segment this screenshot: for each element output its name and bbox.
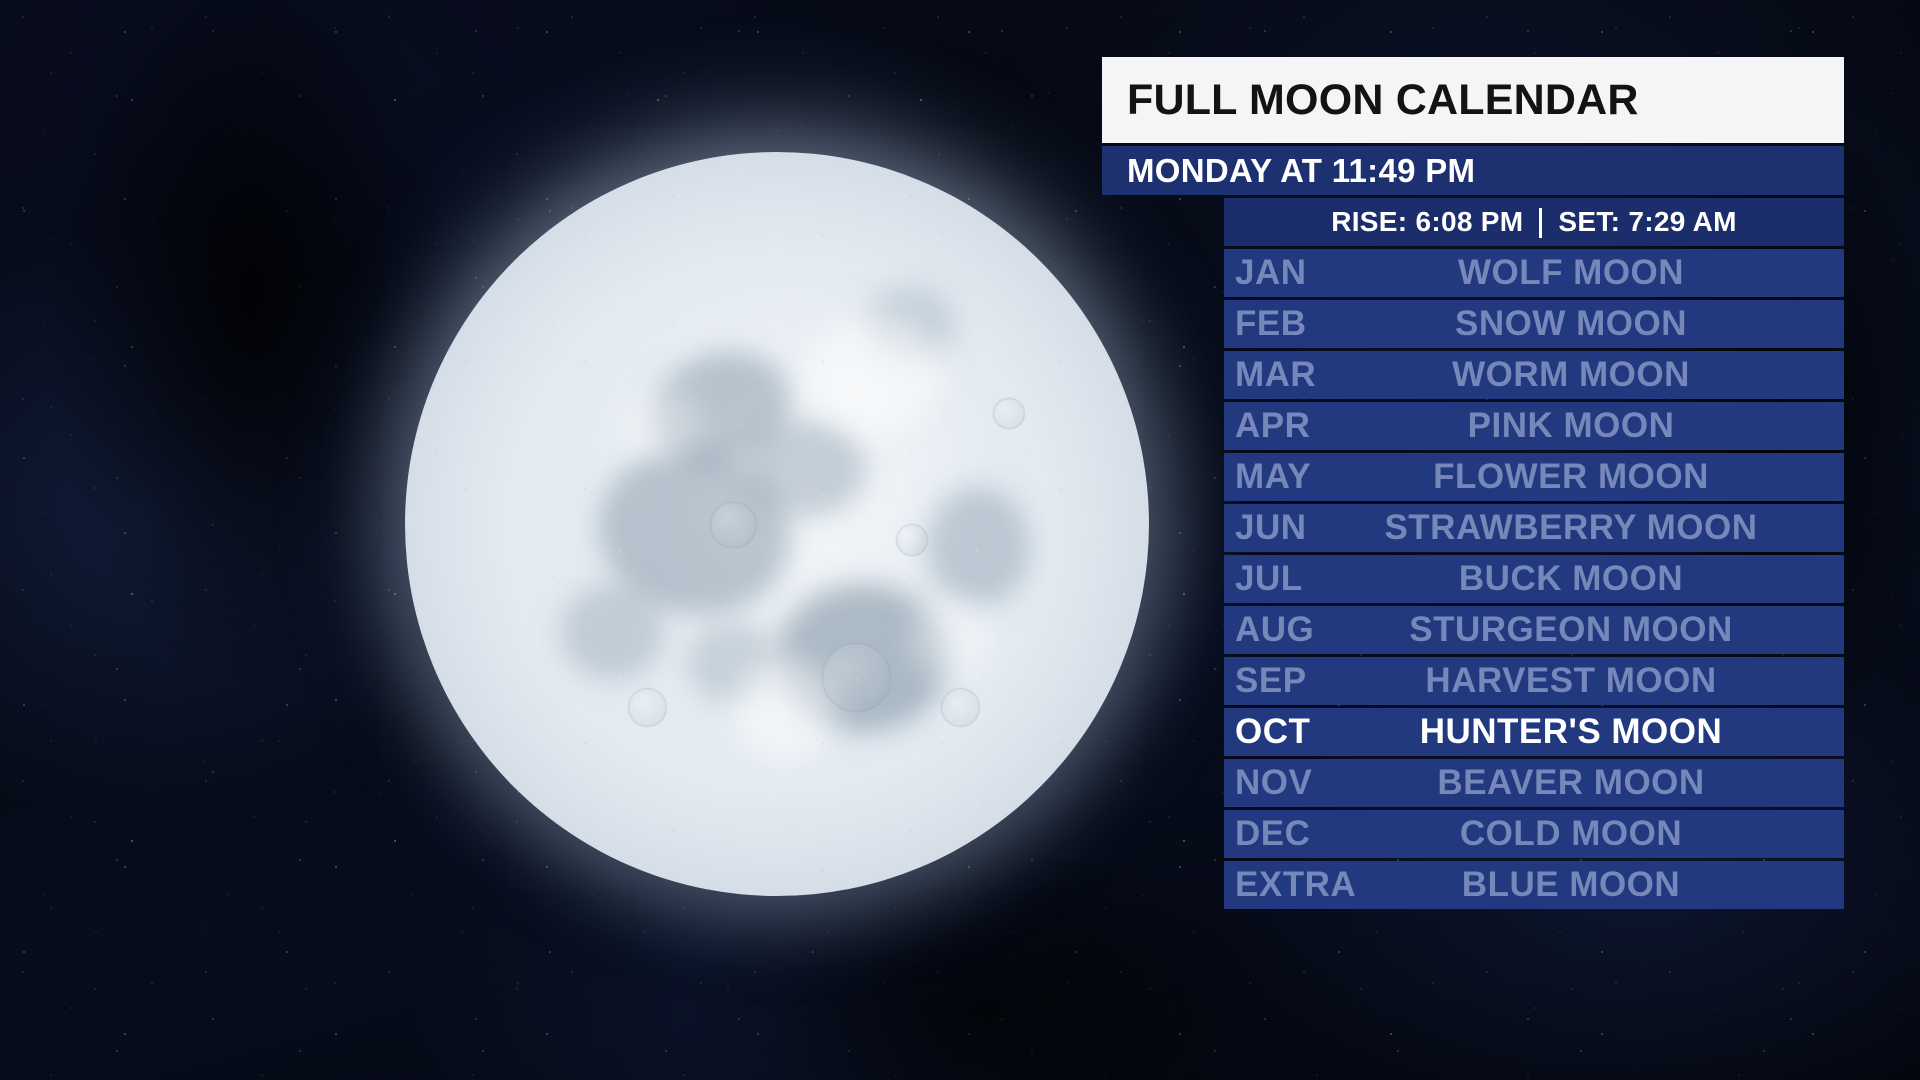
divider — [1539, 208, 1542, 238]
moonset-label: SET: 7:29 AM — [1558, 206, 1736, 238]
moon-name: PINK MOON — [1224, 406, 1844, 446]
month-abbr: FEB — [1235, 304, 1307, 344]
moon-name: BUCK MOON — [1224, 559, 1844, 599]
month-abbr: MAY — [1235, 457, 1311, 497]
month-abbr: AUG — [1235, 610, 1314, 650]
full-moon-time: MONDAY AT 11:49 PM — [1102, 146, 1844, 195]
moon-name: STURGEON MOON — [1224, 610, 1844, 650]
month-abbr: DEC — [1235, 814, 1310, 854]
month-row[interactable]: FEBSNOW MOON — [1224, 300, 1844, 348]
month-row[interactable]: JANWOLF MOON — [1224, 249, 1844, 297]
month-abbr: JAN — [1235, 253, 1307, 293]
moon-name: WOLF MOON — [1224, 253, 1844, 293]
full-moon-calendar-panel: FULL MOON CALENDAR MONDAY AT 11:49 PM RI… — [1102, 57, 1844, 912]
month-row[interactable]: MARWORM MOON — [1224, 351, 1844, 399]
month-abbr: SEP — [1235, 661, 1307, 701]
month-abbr: JUL — [1235, 559, 1303, 599]
month-row[interactable]: DECCOLD MOON — [1224, 810, 1844, 858]
moon-name: FLOWER MOON — [1224, 457, 1844, 497]
month-row[interactable]: AUGSTURGEON MOON — [1224, 606, 1844, 654]
month-row[interactable]: SEPHARVEST MOON — [1224, 657, 1844, 705]
moon-name: HARVEST MOON — [1224, 661, 1844, 701]
month-abbr: EXTRA — [1235, 865, 1356, 905]
month-row[interactable]: EXTRABLUE MOON — [1224, 861, 1844, 909]
moon-name: SNOW MOON — [1224, 304, 1844, 344]
moon-name: WORM MOON — [1224, 355, 1844, 395]
moonrise-label: RISE: 6:08 PM — [1331, 206, 1523, 238]
month-row[interactable]: OCTHUNTER'S MOON — [1224, 708, 1844, 756]
month-row[interactable]: JUNSTRAWBERRY MOON — [1224, 504, 1844, 552]
month-row[interactable]: MAYFLOWER MOON — [1224, 453, 1844, 501]
month-abbr: JUN — [1235, 508, 1307, 548]
month-abbr: APR — [1235, 406, 1310, 446]
month-row[interactable]: NOVBEAVER MOON — [1224, 759, 1844, 807]
moon-name: COLD MOON — [1224, 814, 1844, 854]
moon-name: STRAWBERRY MOON — [1224, 508, 1844, 548]
month-list: JANWOLF MOONFEBSNOW MOONMARWORM MOONAPRP… — [1224, 249, 1844, 909]
month-abbr: MAR — [1235, 355, 1316, 395]
month-row[interactable]: JULBUCK MOON — [1224, 555, 1844, 603]
moon-rise-set-row: RISE: 6:08 PM SET: 7:29 AM — [1224, 198, 1844, 246]
page-title: FULL MOON CALENDAR — [1102, 57, 1844, 143]
moon-limb-shading — [405, 152, 1149, 896]
moon-image — [405, 152, 1149, 896]
month-row[interactable]: APRPINK MOON — [1224, 402, 1844, 450]
month-abbr: NOV — [1235, 763, 1312, 803]
moon-disc — [405, 152, 1149, 896]
full-moon-graphic: FULL MOON CALENDAR MONDAY AT 11:49 PM RI… — [0, 0, 1920, 1080]
month-abbr: OCT — [1235, 712, 1310, 752]
moon-name: HUNTER'S MOON — [1224, 712, 1844, 752]
moon-name: BEAVER MOON — [1224, 763, 1844, 803]
